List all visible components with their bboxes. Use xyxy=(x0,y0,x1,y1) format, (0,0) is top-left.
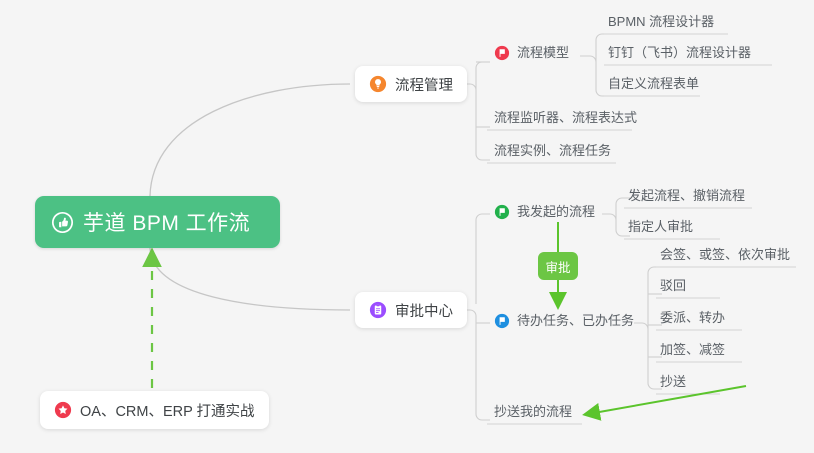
leaf-label-process-model: 流程模型 xyxy=(517,44,569,61)
leaf-todo-done-tasks[interactable]: 待办任务、已办任务 xyxy=(492,312,638,333)
leaf-label-reject: 驳回 xyxy=(660,278,686,293)
leaf-my-initiated[interactable]: 我发起的流程 xyxy=(492,203,599,224)
clipboard-icon xyxy=(369,301,387,319)
leaf-label-todo-done-tasks: 待办任务、已办任务 xyxy=(517,312,634,329)
leaf-label-bpmn-designer: BPMN 流程设计器 xyxy=(608,14,714,29)
branch-label-approval-center: 审批中心 xyxy=(395,300,453,321)
connector-approval-center-riser xyxy=(476,214,490,304)
leaf-bpmn-designer[interactable]: BPMN 流程设计器 xyxy=(604,13,718,34)
lightbulb-icon xyxy=(369,75,387,93)
leaf-label-initiate-cancel: 发起流程、撤销流程 xyxy=(628,188,745,203)
leaf-process-instance[interactable]: 流程实例、流程任务 xyxy=(490,142,615,163)
flag-icon xyxy=(494,313,510,329)
leaf-process-listener[interactable]: 流程监听器、流程表达式 xyxy=(490,109,641,130)
leaf-label-custom-form: 自定义流程表单 xyxy=(608,76,699,91)
branch-label-process-management: 流程管理 xyxy=(395,74,453,95)
flag-icon xyxy=(494,45,510,61)
leaf-cc-to-me[interactable]: 抄送我的流程 xyxy=(490,403,576,424)
leaf-process-model[interactable]: 流程模型 xyxy=(492,44,573,65)
branch-node-approval-center[interactable]: 审批中心 xyxy=(355,292,467,328)
leaf-add-remove-sign[interactable]: 加签、减签 xyxy=(656,341,729,362)
leaf-label-process-listener: 流程监听器、流程表达式 xyxy=(494,110,637,125)
leaf-countersign[interactable]: 会签、或签、依次审批 xyxy=(656,246,794,267)
leaf-delegate[interactable]: 委派、转办 xyxy=(656,309,729,330)
leaf-initiate-cancel[interactable]: 发起流程、撤销流程 xyxy=(624,187,749,208)
leaf-label-countersign: 会签、或签、依次审批 xyxy=(660,247,790,262)
connector-approval-center-spine xyxy=(462,310,490,420)
connector-root-to-process-management xyxy=(150,84,350,196)
leaf-cc[interactable]: 抄送 xyxy=(656,373,690,394)
star-icon xyxy=(54,401,72,419)
leaf-custom-form[interactable]: 自定义流程表单 xyxy=(604,75,703,96)
connector-process-management-riser xyxy=(476,62,490,90)
mindmap-canvas: 芋道 BPM 工作流 流程管理 流程模型 BPMN 流程设计器 钉钉（飞书）流程… xyxy=(0,0,814,453)
leaf-label-my-initiated: 我发起的流程 xyxy=(517,203,595,220)
leaf-label-cc-to-me: 抄送我的流程 xyxy=(494,404,572,419)
approval-annotation-label: 审批 xyxy=(545,257,570,276)
leaf-reject[interactable]: 驳回 xyxy=(656,277,690,298)
root-node[interactable]: 芋道 BPM 工作流 xyxy=(35,196,280,248)
root-label: 芋道 BPM 工作流 xyxy=(83,207,250,237)
leaf-label-dingtalk-designer: 钉钉（飞书）流程设计器 xyxy=(608,45,751,60)
branch-node-process-management[interactable]: 流程管理 xyxy=(355,66,467,102)
leaf-label-cc: 抄送 xyxy=(660,374,686,389)
thumbs-up-icon xyxy=(51,211,74,234)
leaf-label-process-instance: 流程实例、流程任务 xyxy=(494,143,611,158)
leaf-label-designated-approval: 指定人审批 xyxy=(628,219,693,234)
connector-root-to-approval-center xyxy=(150,248,350,310)
leaf-label-delegate: 委派、转办 xyxy=(660,310,725,325)
footer-node-label: OA、CRM、ERP 打通实战 xyxy=(80,400,255,421)
leaf-label-add-remove-sign: 加签、减签 xyxy=(660,342,725,357)
leaf-dingtalk-designer[interactable]: 钉钉（飞书）流程设计器 xyxy=(604,44,755,65)
flag-icon xyxy=(494,204,510,220)
footer-node[interactable]: OA、CRM、ERP 打通实战 xyxy=(40,391,269,429)
approval-annotation-tag[interactable]: 审批 xyxy=(538,252,578,280)
leaf-designated-approval[interactable]: 指定人审批 xyxy=(624,218,697,239)
